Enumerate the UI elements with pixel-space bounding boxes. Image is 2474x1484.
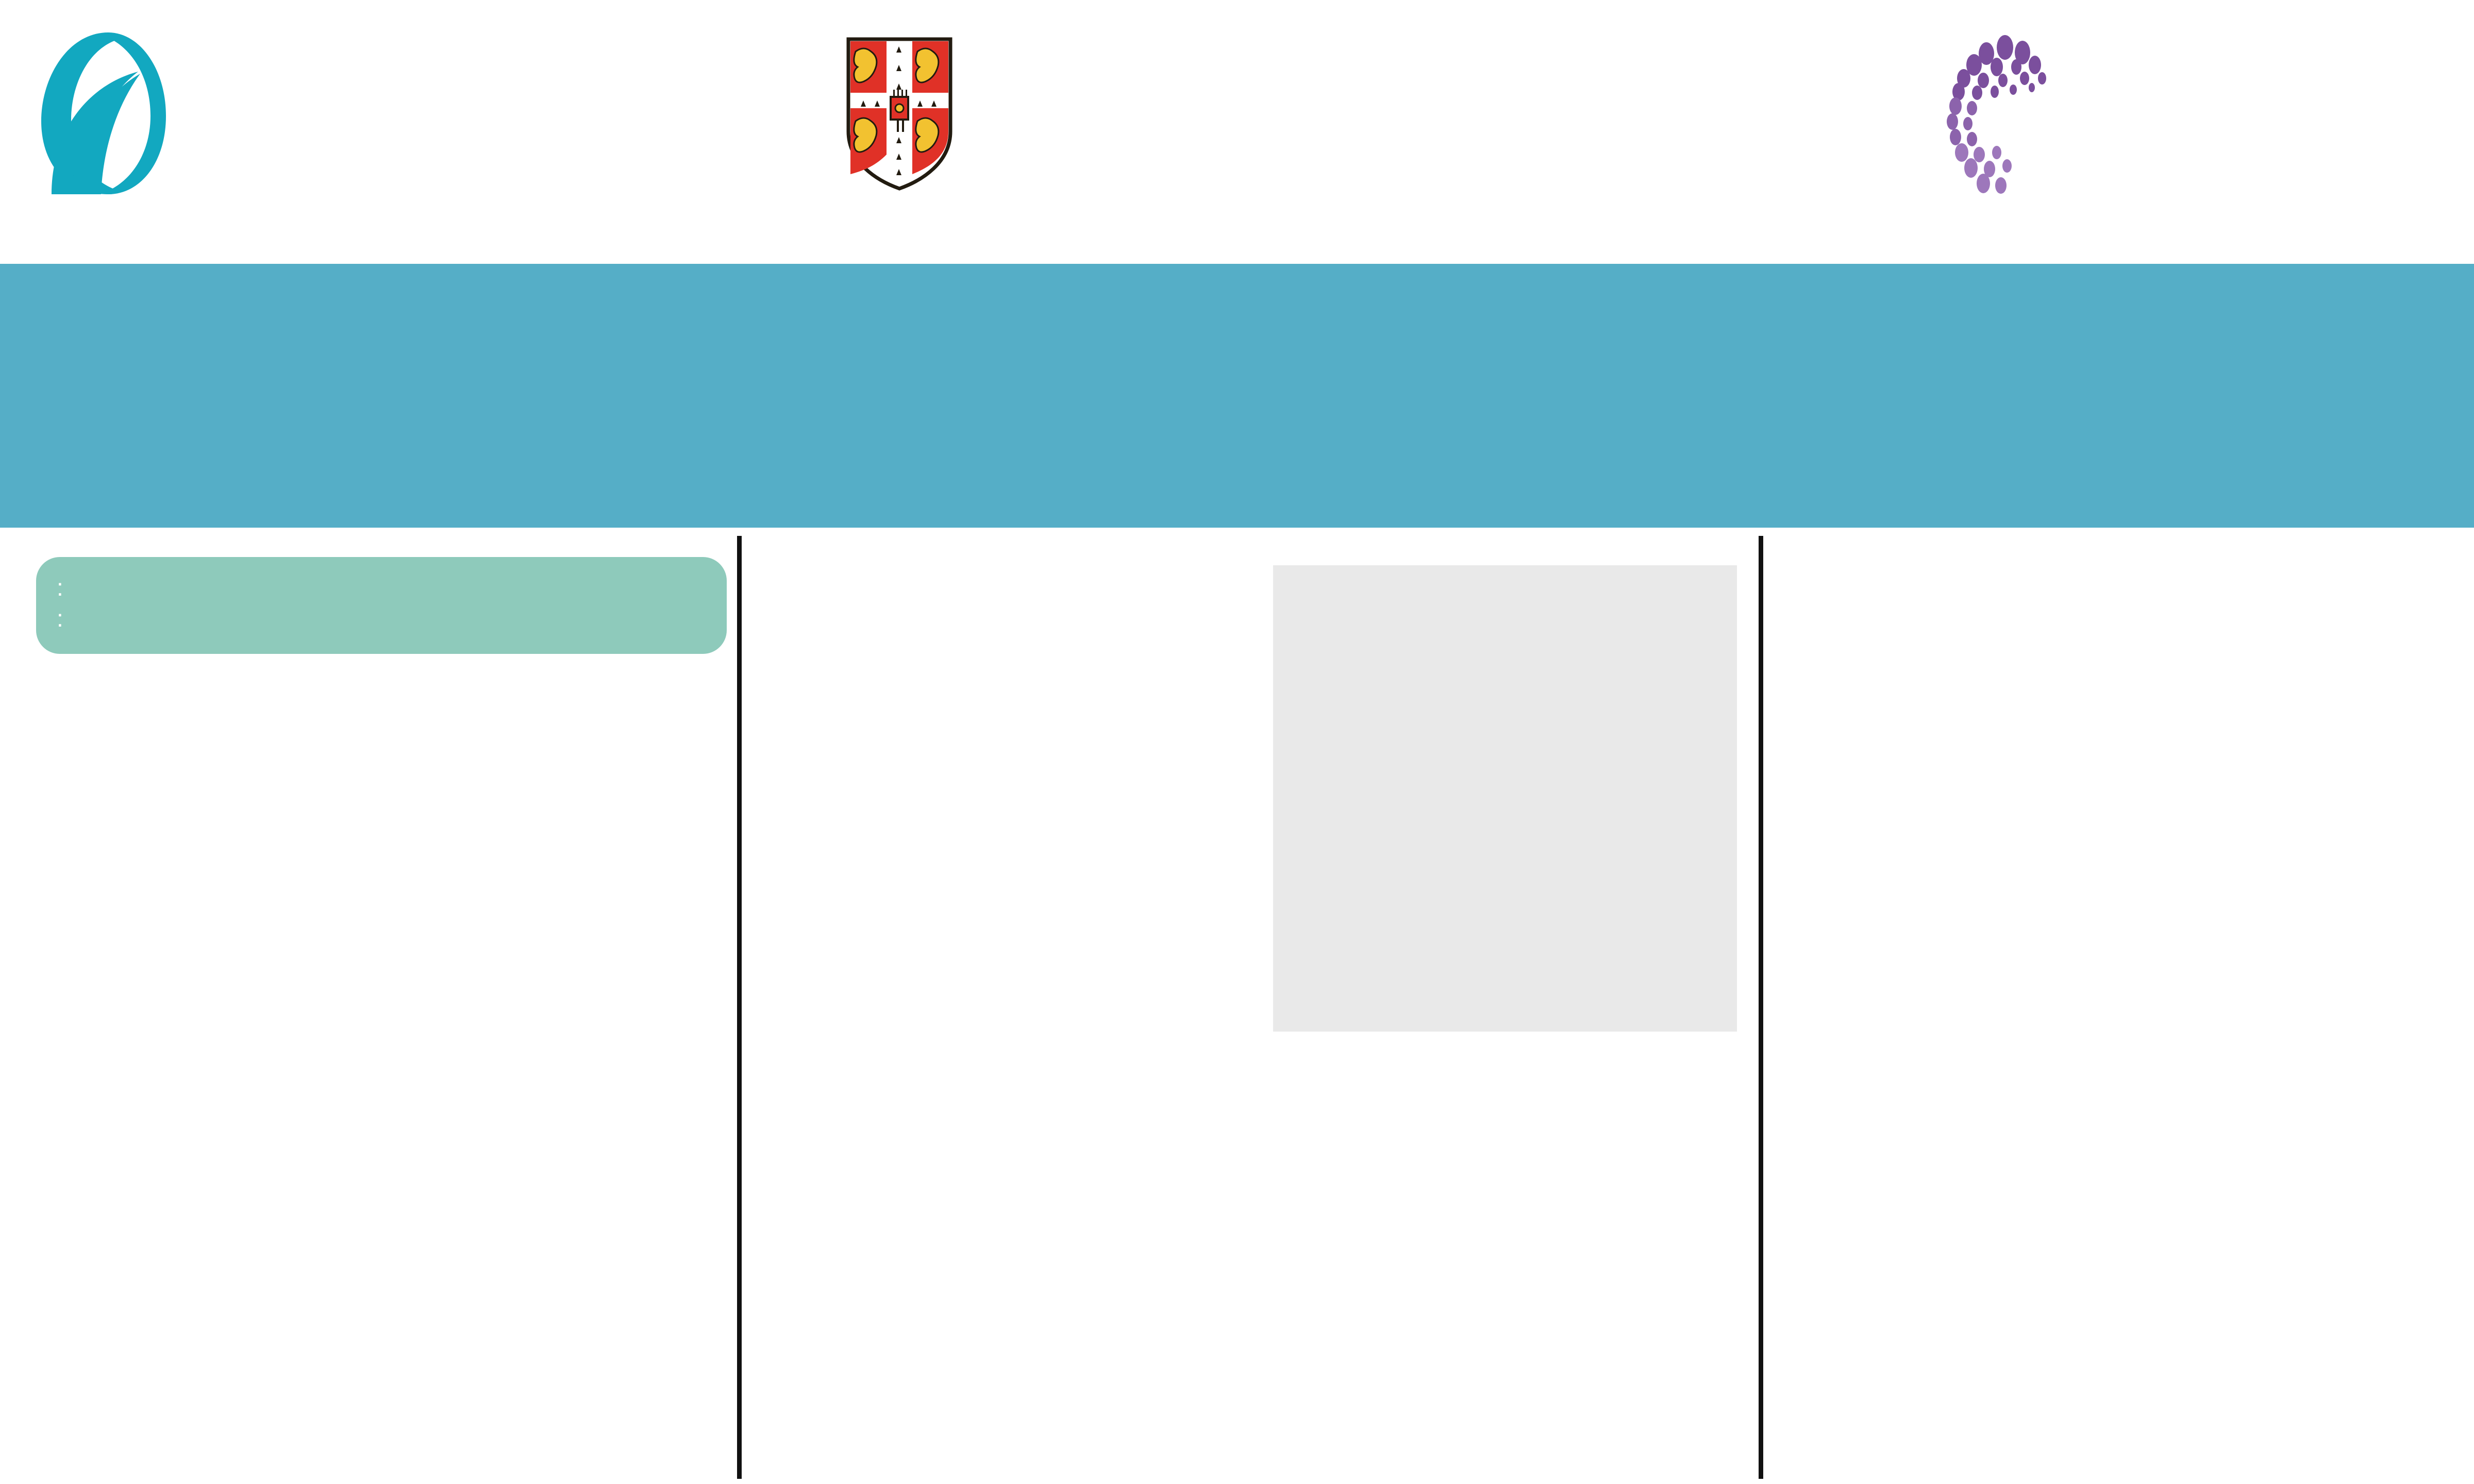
line-charts-row bbox=[1778, 1141, 2428, 1471]
logo-bar bbox=[0, 0, 2474, 258]
architecture-diagram bbox=[758, 550, 1737, 1070]
blog-link[interactable]: : bbox=[57, 572, 706, 603]
links-box[interactable]: : : bbox=[36, 557, 727, 654]
neurips-logo bbox=[1943, 31, 2087, 201]
column-contributions: : : bbox=[36, 544, 727, 869]
neurips-mark-icon bbox=[1943, 31, 2072, 201]
code-link[interactable]: : bbox=[57, 603, 706, 634]
multimodal-filmstrip-1 bbox=[36, 671, 727, 764]
column-architecture bbox=[758, 544, 1742, 1296]
reward-bar-chart bbox=[758, 1090, 1222, 1296]
architecture-lower-row bbox=[758, 1090, 1742, 1296]
poster-root: : : bbox=[0, 0, 2474, 1484]
column-divider-left bbox=[737, 536, 742, 1479]
world-model-bullets bbox=[1242, 1103, 1721, 1296]
multimodal-filmstrip-2 bbox=[36, 776, 727, 869]
wayve-mark-icon bbox=[31, 28, 186, 198]
driving-performance-chart bbox=[1778, 1141, 2098, 1471]
cambridge-logo bbox=[845, 36, 982, 191]
wayve-logo bbox=[31, 28, 211, 198]
cambridge-shield-icon bbox=[845, 36, 954, 191]
bar-chart-wrapper bbox=[758, 1090, 1222, 1296]
perception-accuracy-chart bbox=[2108, 1141, 2428, 1471]
title-band bbox=[0, 264, 2474, 528]
column-divider-right bbox=[1759, 536, 1763, 1479]
author-list bbox=[0, 289, 2474, 301]
page-title bbox=[0, 264, 2474, 289]
column-imagination bbox=[1778, 544, 2459, 557]
architecture-edges bbox=[758, 550, 1737, 1070]
